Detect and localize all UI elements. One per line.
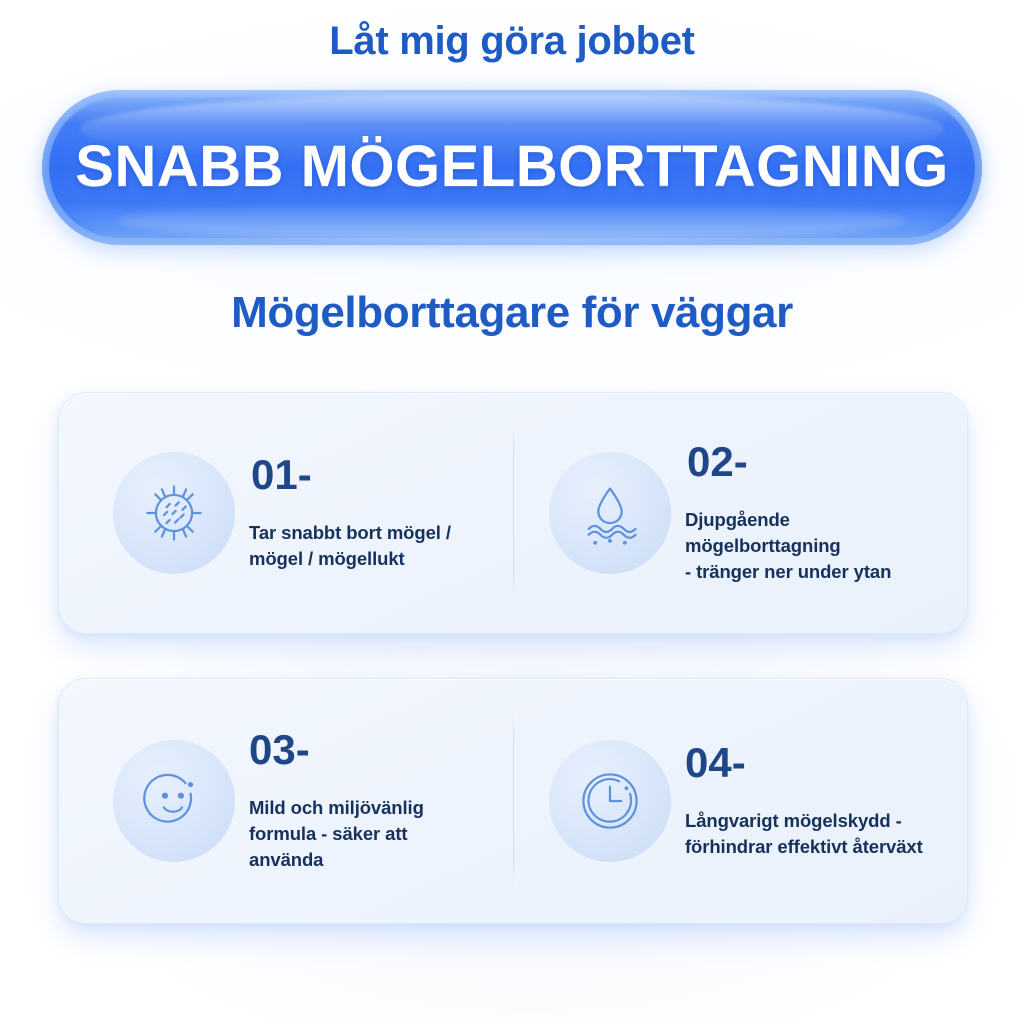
water-droplet-waves-icon xyxy=(549,452,671,574)
feature-text-01: 01- Tar snabbt bort mögel / mögel / möge… xyxy=(249,454,451,573)
feature-card-top: 01- Tar snabbt bort mögel / mögel / möge… xyxy=(58,392,968,634)
feature-number: 02- xyxy=(687,441,891,483)
feature-number: 03- xyxy=(249,729,424,771)
germ-icon xyxy=(113,452,235,574)
feature-description: Djupgående mögelborttagning - tränger ne… xyxy=(685,507,891,586)
feature-text-03: 03- Mild och miljövänlig formula - säker… xyxy=(249,729,424,874)
page-headline: Låt mig göra jobbet xyxy=(0,18,1024,64)
page-subtitle: Mögelborttagare för väggar xyxy=(0,288,1024,338)
feature-description: Tar snabbt bort mögel / mögel / mögelluk… xyxy=(249,520,451,573)
feature-description: Mild och miljövänlig formula - säker att… xyxy=(249,795,424,874)
feature-number: 01- xyxy=(251,454,451,496)
clock-icon xyxy=(549,740,671,862)
feature-item-03: 03- Mild och miljövänlig formula - säker… xyxy=(59,679,513,923)
feature-item-01: 01- Tar snabbt bort mögel / mögel / möge… xyxy=(59,393,513,633)
product-banner: SNABB MÖGELBORTTAGNING xyxy=(42,90,982,245)
feature-item-02: 02- Djupgående mögelborttagning - tränge… xyxy=(513,393,967,633)
feature-card-bottom: 03- Mild och miljövänlig formula - säker… xyxy=(58,678,968,924)
banner-label: SNABB MÖGELBORTTAGNING xyxy=(42,90,982,245)
feature-description: Långvarigt mögelskydd - förhindrar effek… xyxy=(685,808,923,861)
feature-number: 04- xyxy=(685,742,923,784)
feature-text-02: 02- Djupgående mögelborttagning - tränge… xyxy=(685,441,891,586)
feature-item-04: 04- Långvarigt mögelskydd - förhindrar e… xyxy=(513,679,967,923)
feature-text-04: 04- Långvarigt mögelskydd - förhindrar e… xyxy=(685,742,923,861)
smiley-face-icon xyxy=(113,740,235,862)
